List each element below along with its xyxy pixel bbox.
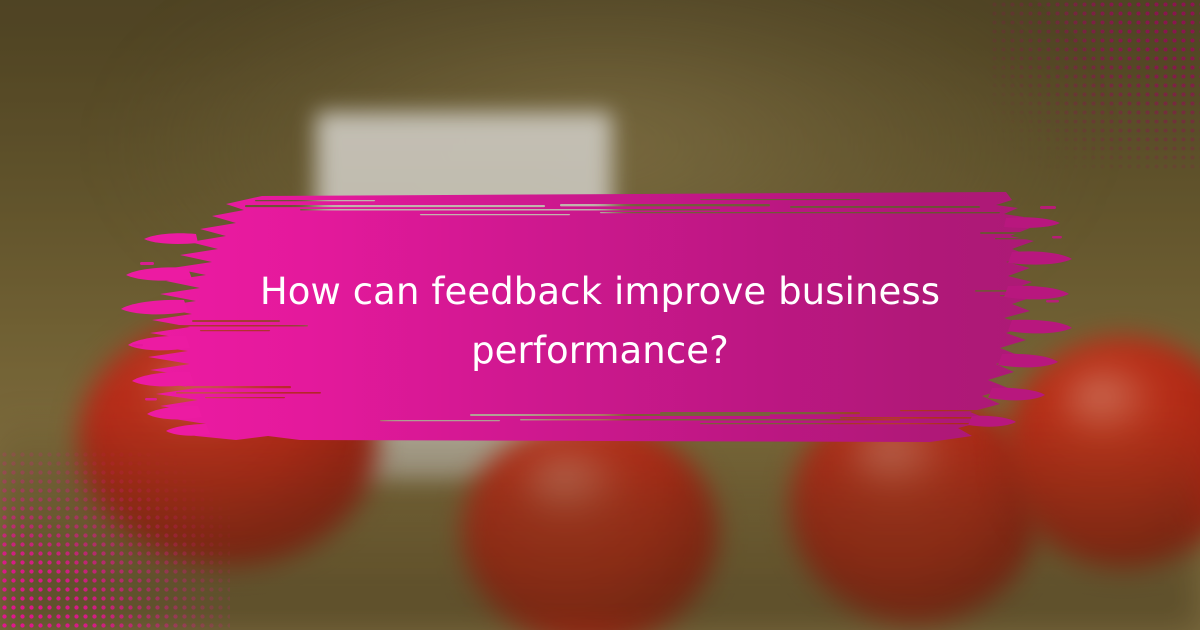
social-share-card: How can feedback improve business perfor… bbox=[0, 0, 1200, 630]
page-title: How can feedback improve business perfor… bbox=[190, 262, 1010, 380]
